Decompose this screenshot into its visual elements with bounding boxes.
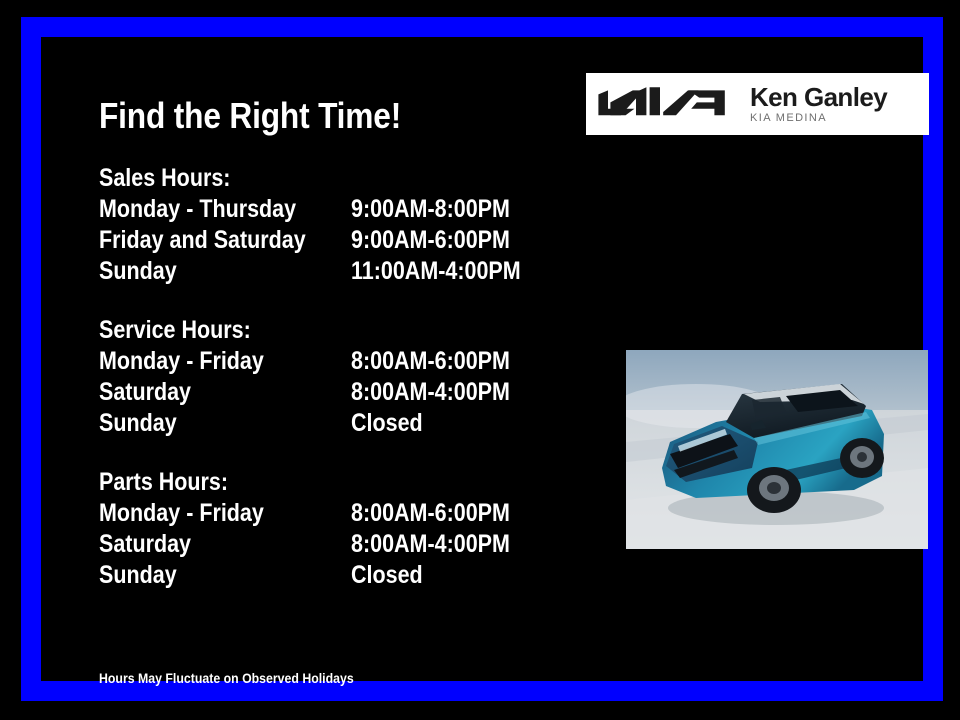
dealer-logo-banner: Ken Ganley KIA MEDINA xyxy=(586,73,929,135)
hours-row-time: 8:00AM-6:00PM xyxy=(351,346,510,377)
hours-row-time: 9:00AM-8:00PM xyxy=(351,194,510,225)
hours-row-day: Sunday xyxy=(99,256,177,287)
page-title: Find the Right Time! xyxy=(99,95,401,137)
hours-row-day: Saturday xyxy=(99,529,191,560)
hours-row: Monday - Friday 8:00AM-6:00PM xyxy=(99,346,569,377)
hours-row-time: 9:00AM-6:00PM xyxy=(351,225,510,256)
vehicle-photo-illustration xyxy=(626,350,928,549)
slide-canvas: Find the Right Time! Sales Hours: Monday… xyxy=(0,0,960,720)
hours-row-day: Monday - Friday xyxy=(99,498,264,529)
dealer-subtitle: KIA MEDINA xyxy=(750,113,887,124)
hours-row-day: Monday - Thursday xyxy=(99,194,296,225)
hours-row-time: Closed xyxy=(351,408,423,439)
hours-row: Sunday Closed xyxy=(99,560,569,591)
blue-border-frame: Find the Right Time! Sales Hours: Monday… xyxy=(21,17,943,701)
hours-row-day: Friday and Saturday xyxy=(99,225,306,256)
vehicle-photo xyxy=(626,350,928,549)
hours-row-time: 8:00AM-6:00PM xyxy=(351,498,510,529)
hours-row-day: Sunday xyxy=(99,560,177,591)
hours-row-time: Closed xyxy=(351,560,423,591)
hours-row: Monday - Friday 8:00AM-6:00PM xyxy=(99,498,569,529)
hours-block-title: Service Hours: xyxy=(99,315,503,346)
hours-row: Sunday Closed xyxy=(99,408,569,439)
hours-row-time: 11:00AM-4:00PM xyxy=(351,256,521,287)
holiday-disclaimer: Hours May Fluctuate on Observed Holidays xyxy=(99,670,354,686)
hours-row: Saturday 8:00AM-4:00PM xyxy=(99,377,569,408)
hours-block-title: Sales Hours: xyxy=(99,163,503,194)
hours-row-time: 8:00AM-4:00PM xyxy=(351,529,510,560)
hours-row: Sunday 11:00AM-4:00PM xyxy=(99,256,569,287)
hours-row: Friday and Saturday 9:00AM-6:00PM xyxy=(99,225,569,256)
hours-row: Monday - Thursday 9:00AM-8:00PM xyxy=(99,194,569,225)
hours-row-time: 8:00AM-4:00PM xyxy=(351,377,510,408)
hours-block-sales: Sales Hours: Monday - Thursday 9:00AM-8:… xyxy=(99,163,569,287)
dealer-name-group: Ken Ganley KIA MEDINA xyxy=(750,84,887,124)
hours-row-day: Sunday xyxy=(99,408,177,439)
slide-inner-panel: Find the Right Time! Sales Hours: Monday… xyxy=(41,37,923,681)
hours-sections: Sales Hours: Monday - Thursday 9:00AM-8:… xyxy=(99,163,569,591)
hours-block-service: Service Hours: Monday - Friday 8:00AM-6:… xyxy=(99,315,569,439)
dealer-name: Ken Ganley xyxy=(750,84,887,110)
hours-row-day: Saturday xyxy=(99,377,191,408)
kia-logo-icon xyxy=(596,84,728,124)
hours-block-parts: Parts Hours: Monday - Friday 8:00AM-6:00… xyxy=(99,467,569,591)
hours-row-day: Monday - Friday xyxy=(99,346,264,377)
hours-row: Saturday 8:00AM-4:00PM xyxy=(99,529,569,560)
hours-block-title: Parts Hours: xyxy=(99,467,503,498)
